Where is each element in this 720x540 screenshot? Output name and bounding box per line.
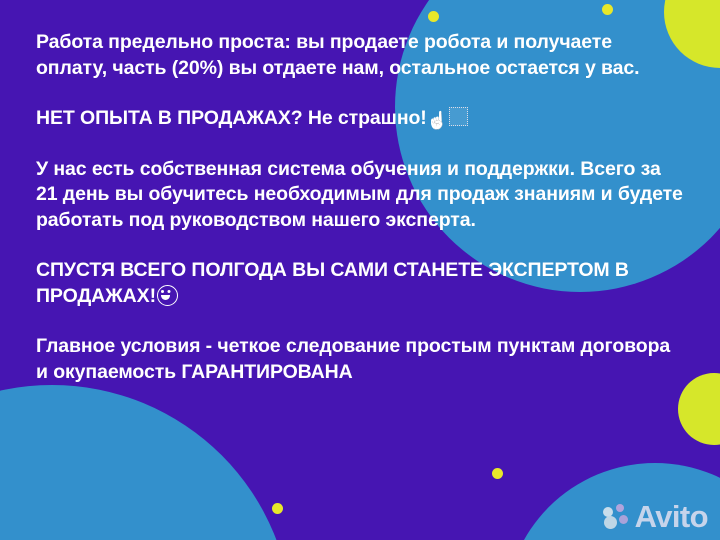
decor-lime-circle-right	[678, 373, 720, 445]
paragraph-training: У нас есть собственная система обучения …	[36, 157, 684, 234]
decor-yellow-dot	[492, 468, 503, 479]
paragraph-main-condition-text: Главное условия - четкое следование прос…	[36, 335, 670, 383]
paragraph-intro: Работа предельно проста: вы продаете роб…	[36, 30, 684, 81]
decor-yellow-dot	[428, 11, 439, 22]
avito-dots-icon	[603, 504, 631, 530]
paragraph-no-experience: НЕТ ОПЫТА В ПРОДАЖАХ? Не страшно!☝	[36, 106, 684, 132]
avito-watermark: Avito	[603, 501, 708, 532]
paragraph-training-text: У нас есть собственная система обучения …	[36, 158, 683, 231]
point-up-icon: ☝	[427, 112, 448, 129]
decor-blue-circle-bottom-left	[0, 385, 292, 540]
paragraph-become-expert: СПУСТЯ ВСЕГО ПОЛГОДА ВЫ САМИ СТАНЕТЕ ЭКС…	[36, 258, 684, 309]
missing-glyph-box-icon	[449, 107, 468, 126]
paragraph-intro-text: Работа предельно проста: вы продаете роб…	[36, 31, 640, 79]
decor-yellow-dot	[602, 4, 613, 15]
promo-poster: Работа предельно проста: вы продаете роб…	[0, 0, 720, 540]
decor-yellow-dot	[272, 503, 283, 514]
smiling-face-icon	[157, 285, 178, 306]
avito-wordmark: Avito	[635, 501, 708, 532]
poster-text-block: Работа предельно проста: вы продаете роб…	[36, 30, 684, 385]
paragraph-become-expert-text: СПУСТЯ ВСЕГО ПОЛГОДА ВЫ САМИ СТАНЕТЕ ЭКС…	[36, 259, 629, 307]
paragraph-no-experience-text: НЕТ ОПЫТА В ПРОДАЖАХ? Не страшно!	[36, 107, 427, 129]
paragraph-main-condition: Главное условия - четкое следование прос…	[36, 334, 684, 385]
